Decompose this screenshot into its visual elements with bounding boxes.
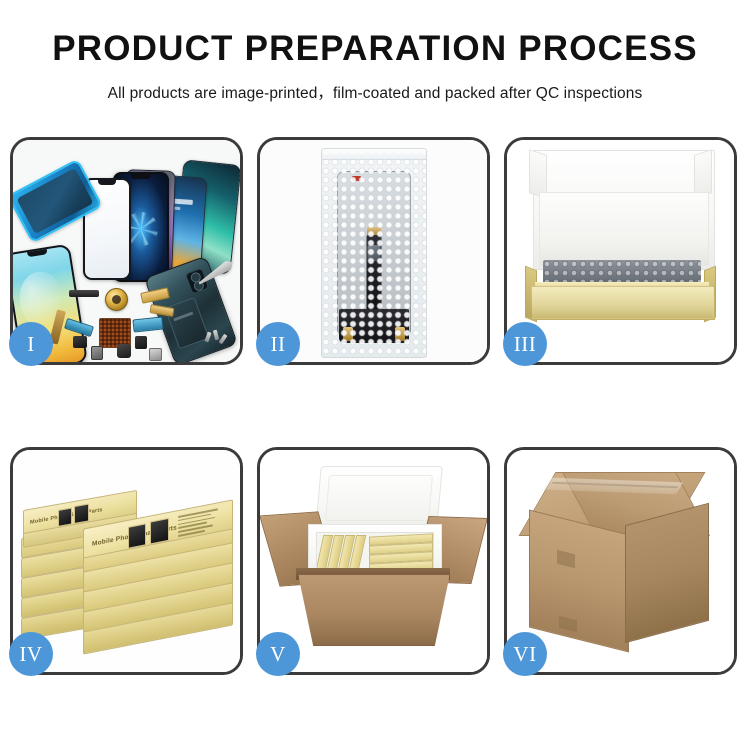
foam-cooler-lid xyxy=(315,466,443,530)
box-artwork-right-1 xyxy=(128,523,146,548)
process-step-panel-5[interactable]: V xyxy=(257,447,490,675)
process-step-panel-6[interactable]: VI xyxy=(504,447,737,675)
speaker-component xyxy=(105,288,128,311)
box-artwork-left-2 xyxy=(74,503,89,524)
earpiece-component xyxy=(69,290,99,297)
step-badge-4: IV xyxy=(9,632,53,676)
process-steps-grid: I II xyxy=(10,137,740,675)
box-artwork-left-1 xyxy=(58,507,72,526)
step-badge-3: III xyxy=(503,322,547,366)
process-step-panel-4[interactable]: Mobile Phone Spare Parts Mobile Phone Sp… xyxy=(10,447,243,675)
box-artwork-right-2 xyxy=(150,518,169,545)
chip-component-2 xyxy=(135,336,147,349)
step-badge-5: V xyxy=(256,632,300,676)
chip-component-3 xyxy=(117,344,131,358)
process-step-panel-2[interactable]: II xyxy=(257,137,490,365)
screws-group xyxy=(206,330,228,348)
step-badge-1: I xyxy=(9,322,53,366)
carton-body xyxy=(298,574,450,646)
chip-component-4 xyxy=(91,346,103,360)
process-step-panel-3[interactable]: III xyxy=(504,137,737,365)
gold-box-stack: Mobile Phone Spare Parts Mobile Phone Sp… xyxy=(17,470,237,660)
step-badge-2: II xyxy=(256,322,300,366)
page-subtitle: All products are image-printed，film-coat… xyxy=(0,81,750,103)
chip-component-1 xyxy=(73,336,87,348)
bubble-texture-overlay xyxy=(322,149,426,357)
chip-component-5 xyxy=(149,348,162,361)
process-step-panel-1[interactable]: I xyxy=(10,137,243,365)
bag-seal-edge xyxy=(322,149,426,160)
step-badge-6: VI xyxy=(503,632,547,676)
carton-side-face xyxy=(625,503,709,644)
carton-front-face xyxy=(529,510,629,653)
bubble-wrap-bag xyxy=(321,148,427,358)
gold-box-base-highlight xyxy=(531,286,713,318)
page-header: PRODUCT PREPARATION PROCESS All products… xyxy=(0,0,750,103)
page-title: PRODUCT PREPARATION PROCESS xyxy=(0,30,750,69)
foam-insert-white xyxy=(539,192,709,266)
